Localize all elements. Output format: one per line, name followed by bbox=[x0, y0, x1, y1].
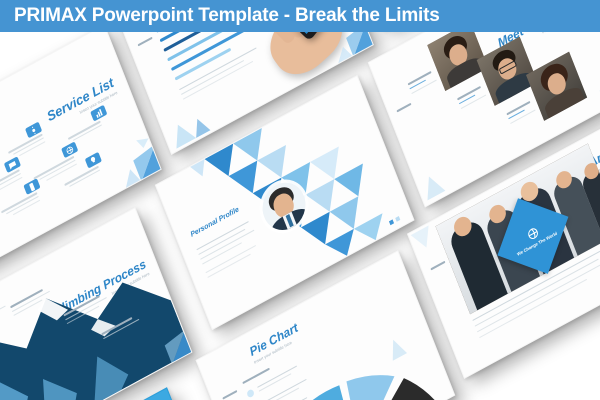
mobile-icon bbox=[23, 178, 40, 195]
mosaic-corner bbox=[415, 148, 464, 200]
header-bar: PRIMAX Powerpoint Template - Break the L… bbox=[0, 0, 600, 32]
slide-subtitle: Insert your subtitle here bbox=[541, 32, 580, 34]
legend-swatch bbox=[246, 388, 255, 398]
sidebar-label bbox=[430, 261, 445, 271]
sidebar-label bbox=[138, 37, 153, 47]
lightbulb-icon bbox=[85, 152, 102, 169]
preview-canvas: PRIMAX Powerpoint Template - Break the L… bbox=[0, 0, 600, 400]
sidebar-label bbox=[396, 103, 411, 113]
isometric-grid: Service List Insert your subtitle here bbox=[0, 32, 600, 400]
mosaic-corner bbox=[164, 97, 213, 149]
slide-field: Service List Insert your subtitle here bbox=[0, 32, 600, 400]
mosaic-corner bbox=[101, 125, 162, 194]
mosaic-corner bbox=[574, 60, 600, 120]
globe-icon bbox=[61, 141, 78, 158]
page-title: PRIMAX Powerpoint Template - Break the L… bbox=[0, 5, 440, 27]
sidebar-label bbox=[222, 390, 237, 400]
